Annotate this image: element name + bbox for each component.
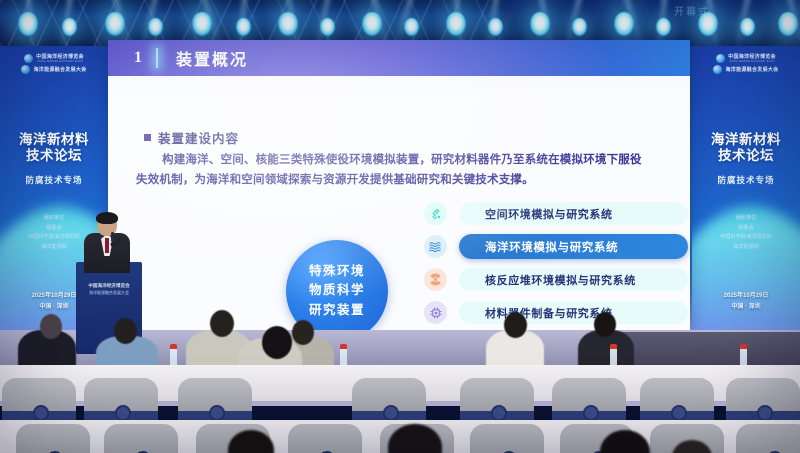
badge-line-2: 物质科学 bbox=[309, 281, 365, 300]
audience-chair bbox=[288, 424, 362, 453]
expo-logo-text: 中国海洋经济博览会 CHINA MARINE ECONOMY EXPO bbox=[36, 54, 84, 63]
system-list-item[interactable]: 核反应堆环境模拟与研究系统 bbox=[424, 266, 688, 293]
energy-conference-logo-mark bbox=[713, 65, 722, 74]
banner-right-logos: 中国海洋经济博览会 CHINA MARINE ECONOMY EXPO 海洋能源… bbox=[692, 52, 800, 76]
system-list-item[interactable]: 海洋环境模拟与研究系统 bbox=[424, 233, 688, 260]
audience-chair bbox=[16, 424, 90, 453]
audience-chair bbox=[726, 378, 800, 424]
stage-light bbox=[148, 18, 163, 36]
speaker-person bbox=[84, 214, 130, 270]
system-list: 空间环境模拟与研究系统海洋环境模拟与研究系统核反应堆环境模拟与研究系统材料器件制… bbox=[424, 200, 688, 335]
energy-conference-logo-mark bbox=[21, 65, 30, 74]
stage-light bbox=[404, 18, 419, 36]
audience-chair bbox=[352, 378, 426, 424]
system-pill[interactable]: 空间环境模拟与研究系统 bbox=[459, 202, 688, 225]
podium-logo: 中国海洋经济博览会 海洋能源融合发展大会 bbox=[83, 282, 135, 297]
slide-title: 装置概况 bbox=[176, 46, 248, 70]
slide-paragraph: 构建海洋、空间、核能三类特殊使役环境模拟装置，研究材料器件乃至系统在模拟环境下服… bbox=[136, 150, 664, 190]
conference-hall-photo: 开幕式 中国海洋经济博览会 CHINA MARINE ECONOMY EXPO … bbox=[0, 0, 800, 453]
section-heading: 装置建设内容 bbox=[144, 128, 239, 147]
section-heading-label: 装置建设内容 bbox=[158, 128, 239, 147]
chair-sash-ring bbox=[757, 405, 773, 421]
stage-light bbox=[446, 12, 466, 36]
projected-slide: 1 装置概况 装置建设内容 构建海洋、空间、核能三类特殊使役环境模拟装置，研究材… bbox=[108, 40, 690, 335]
chair-sash-ring bbox=[33, 405, 49, 421]
chip-icon bbox=[424, 301, 447, 324]
audience-chair bbox=[552, 378, 626, 424]
chair-sash-ring bbox=[491, 405, 507, 421]
stage-light bbox=[488, 18, 503, 36]
paragraph-line-1: 构建海洋、空间、核能三类特殊使役环境模拟装置，研究材料器件乃至系统在模拟环境下服… bbox=[136, 150, 664, 170]
banner-right: 中国海洋经济博览会 CHINA MARINE ECONOMY EXPO 海洋能源… bbox=[692, 46, 800, 346]
stage-light bbox=[656, 18, 671, 36]
audience-head bbox=[594, 312, 616, 337]
stage-light bbox=[320, 18, 335, 36]
expo-logo-mark bbox=[716, 54, 725, 63]
stage-light bbox=[62, 18, 77, 36]
square-bullet-icon bbox=[144, 134, 151, 141]
slide-header-bar: 1 装置概况 bbox=[108, 40, 690, 76]
badge-line-3: 研究装置 bbox=[309, 301, 365, 320]
audience-head bbox=[262, 326, 292, 359]
banner-right-subtitle: 防腐技术专场 bbox=[692, 174, 800, 186]
system-pill[interactable]: 海洋环境模拟与研究系统 bbox=[459, 234, 688, 259]
energy-conference-logo-text: 海洋能源融合发展大会 bbox=[725, 67, 778, 73]
stage-light bbox=[192, 12, 212, 36]
speaker-hair bbox=[96, 212, 118, 224]
stage-light bbox=[698, 12, 718, 36]
audience-head bbox=[210, 310, 234, 337]
stage-light bbox=[18, 12, 38, 36]
header-divider bbox=[156, 48, 158, 68]
energy-conference-logo: 海洋能源融合发展大会 bbox=[0, 65, 108, 74]
chair-sash-ring bbox=[583, 405, 599, 421]
slide-section-number: 1 bbox=[134, 49, 142, 67]
waves-icon bbox=[424, 235, 447, 258]
paragraph-line-2: 失效机制，为海洋和空间领域探索与资源开发提供基础研究和关键技术支撑。 bbox=[136, 174, 534, 186]
stage-light bbox=[740, 18, 755, 36]
banner-left-logos: 中国海洋经济博览会 CHINA MARINE ECONOMY EXPO 海洋能源… bbox=[0, 52, 108, 76]
banner-right-organizers: 组织单位 组委会 中国科学院海洋研究所 海洋能源网 bbox=[692, 214, 800, 253]
stage-light bbox=[572, 18, 587, 36]
audience-chair bbox=[736, 424, 800, 453]
expo-logo-mark bbox=[24, 54, 33, 63]
stage-light bbox=[278, 12, 298, 36]
microphone-icon bbox=[111, 232, 114, 242]
chair-sash-ring bbox=[115, 405, 131, 421]
radiation-icon bbox=[424, 268, 447, 291]
audience-chair bbox=[640, 378, 714, 424]
stage-light bbox=[362, 12, 382, 36]
system-list-item[interactable]: 空间环境模拟与研究系统 bbox=[424, 200, 688, 227]
audience-head bbox=[292, 320, 314, 345]
energy-conference-logo: 海洋能源融合发展大会 bbox=[692, 65, 800, 74]
expo-logo: 中国海洋经济博览会 CHINA MARINE ECONOMY EXPO bbox=[692, 54, 800, 63]
audience-head bbox=[114, 318, 137, 344]
expo-logo: 中国海洋经济博览会 CHINA MARINE ECONOMY EXPO bbox=[0, 54, 108, 63]
audience-head bbox=[504, 312, 527, 338]
audience-chair bbox=[178, 378, 252, 424]
system-label: 空间环境模拟与研究系统 bbox=[485, 206, 613, 222]
system-list-item[interactable]: 材料器件制备与研究系统 bbox=[424, 299, 688, 326]
system-label: 材料器件制备与研究系统 bbox=[485, 305, 613, 321]
chair-sash-ring bbox=[671, 405, 687, 421]
stage-light bbox=[105, 12, 125, 36]
energy-conference-logo-text: 海洋能源融合发展大会 bbox=[33, 67, 86, 73]
satellite-icon bbox=[424, 202, 447, 225]
stage-light bbox=[778, 12, 798, 36]
system-pill[interactable]: 核反应堆环境模拟与研究系统 bbox=[459, 268, 688, 291]
stage-light bbox=[530, 12, 550, 36]
system-label: 核反应堆环境模拟与研究系统 bbox=[485, 272, 636, 288]
audience-head bbox=[40, 314, 62, 339]
audience-chair bbox=[470, 424, 544, 453]
system-label: 海洋环境模拟与研究系统 bbox=[485, 239, 618, 255]
audience-chair bbox=[104, 424, 178, 453]
audience-chair bbox=[460, 378, 534, 424]
audience-chair bbox=[2, 378, 76, 424]
system-pill[interactable]: 材料器件制备与研究系统 bbox=[459, 301, 688, 324]
banner-right-title: 海洋新材料 技术论坛 bbox=[692, 132, 800, 165]
banner-left-title: 海洋新材料 技术论坛 bbox=[0, 132, 108, 165]
banner-left-subtitle: 防腐技术专场 bbox=[0, 174, 108, 186]
stage-light bbox=[236, 18, 251, 36]
banner-right-date: 2025年10月29日 中国 · 深圳 bbox=[692, 291, 800, 314]
chair-sash-ring bbox=[209, 405, 225, 421]
chair-sash-ring bbox=[383, 405, 399, 421]
audience-chair bbox=[84, 378, 158, 424]
badge-line-1: 特殊环境 bbox=[309, 262, 365, 281]
speaker-tie bbox=[105, 238, 109, 253]
expo-logo-text: 中国海洋经济博览会 CHINA MARINE ECONOMY EXPO bbox=[728, 54, 776, 63]
stage-light bbox=[614, 12, 634, 36]
